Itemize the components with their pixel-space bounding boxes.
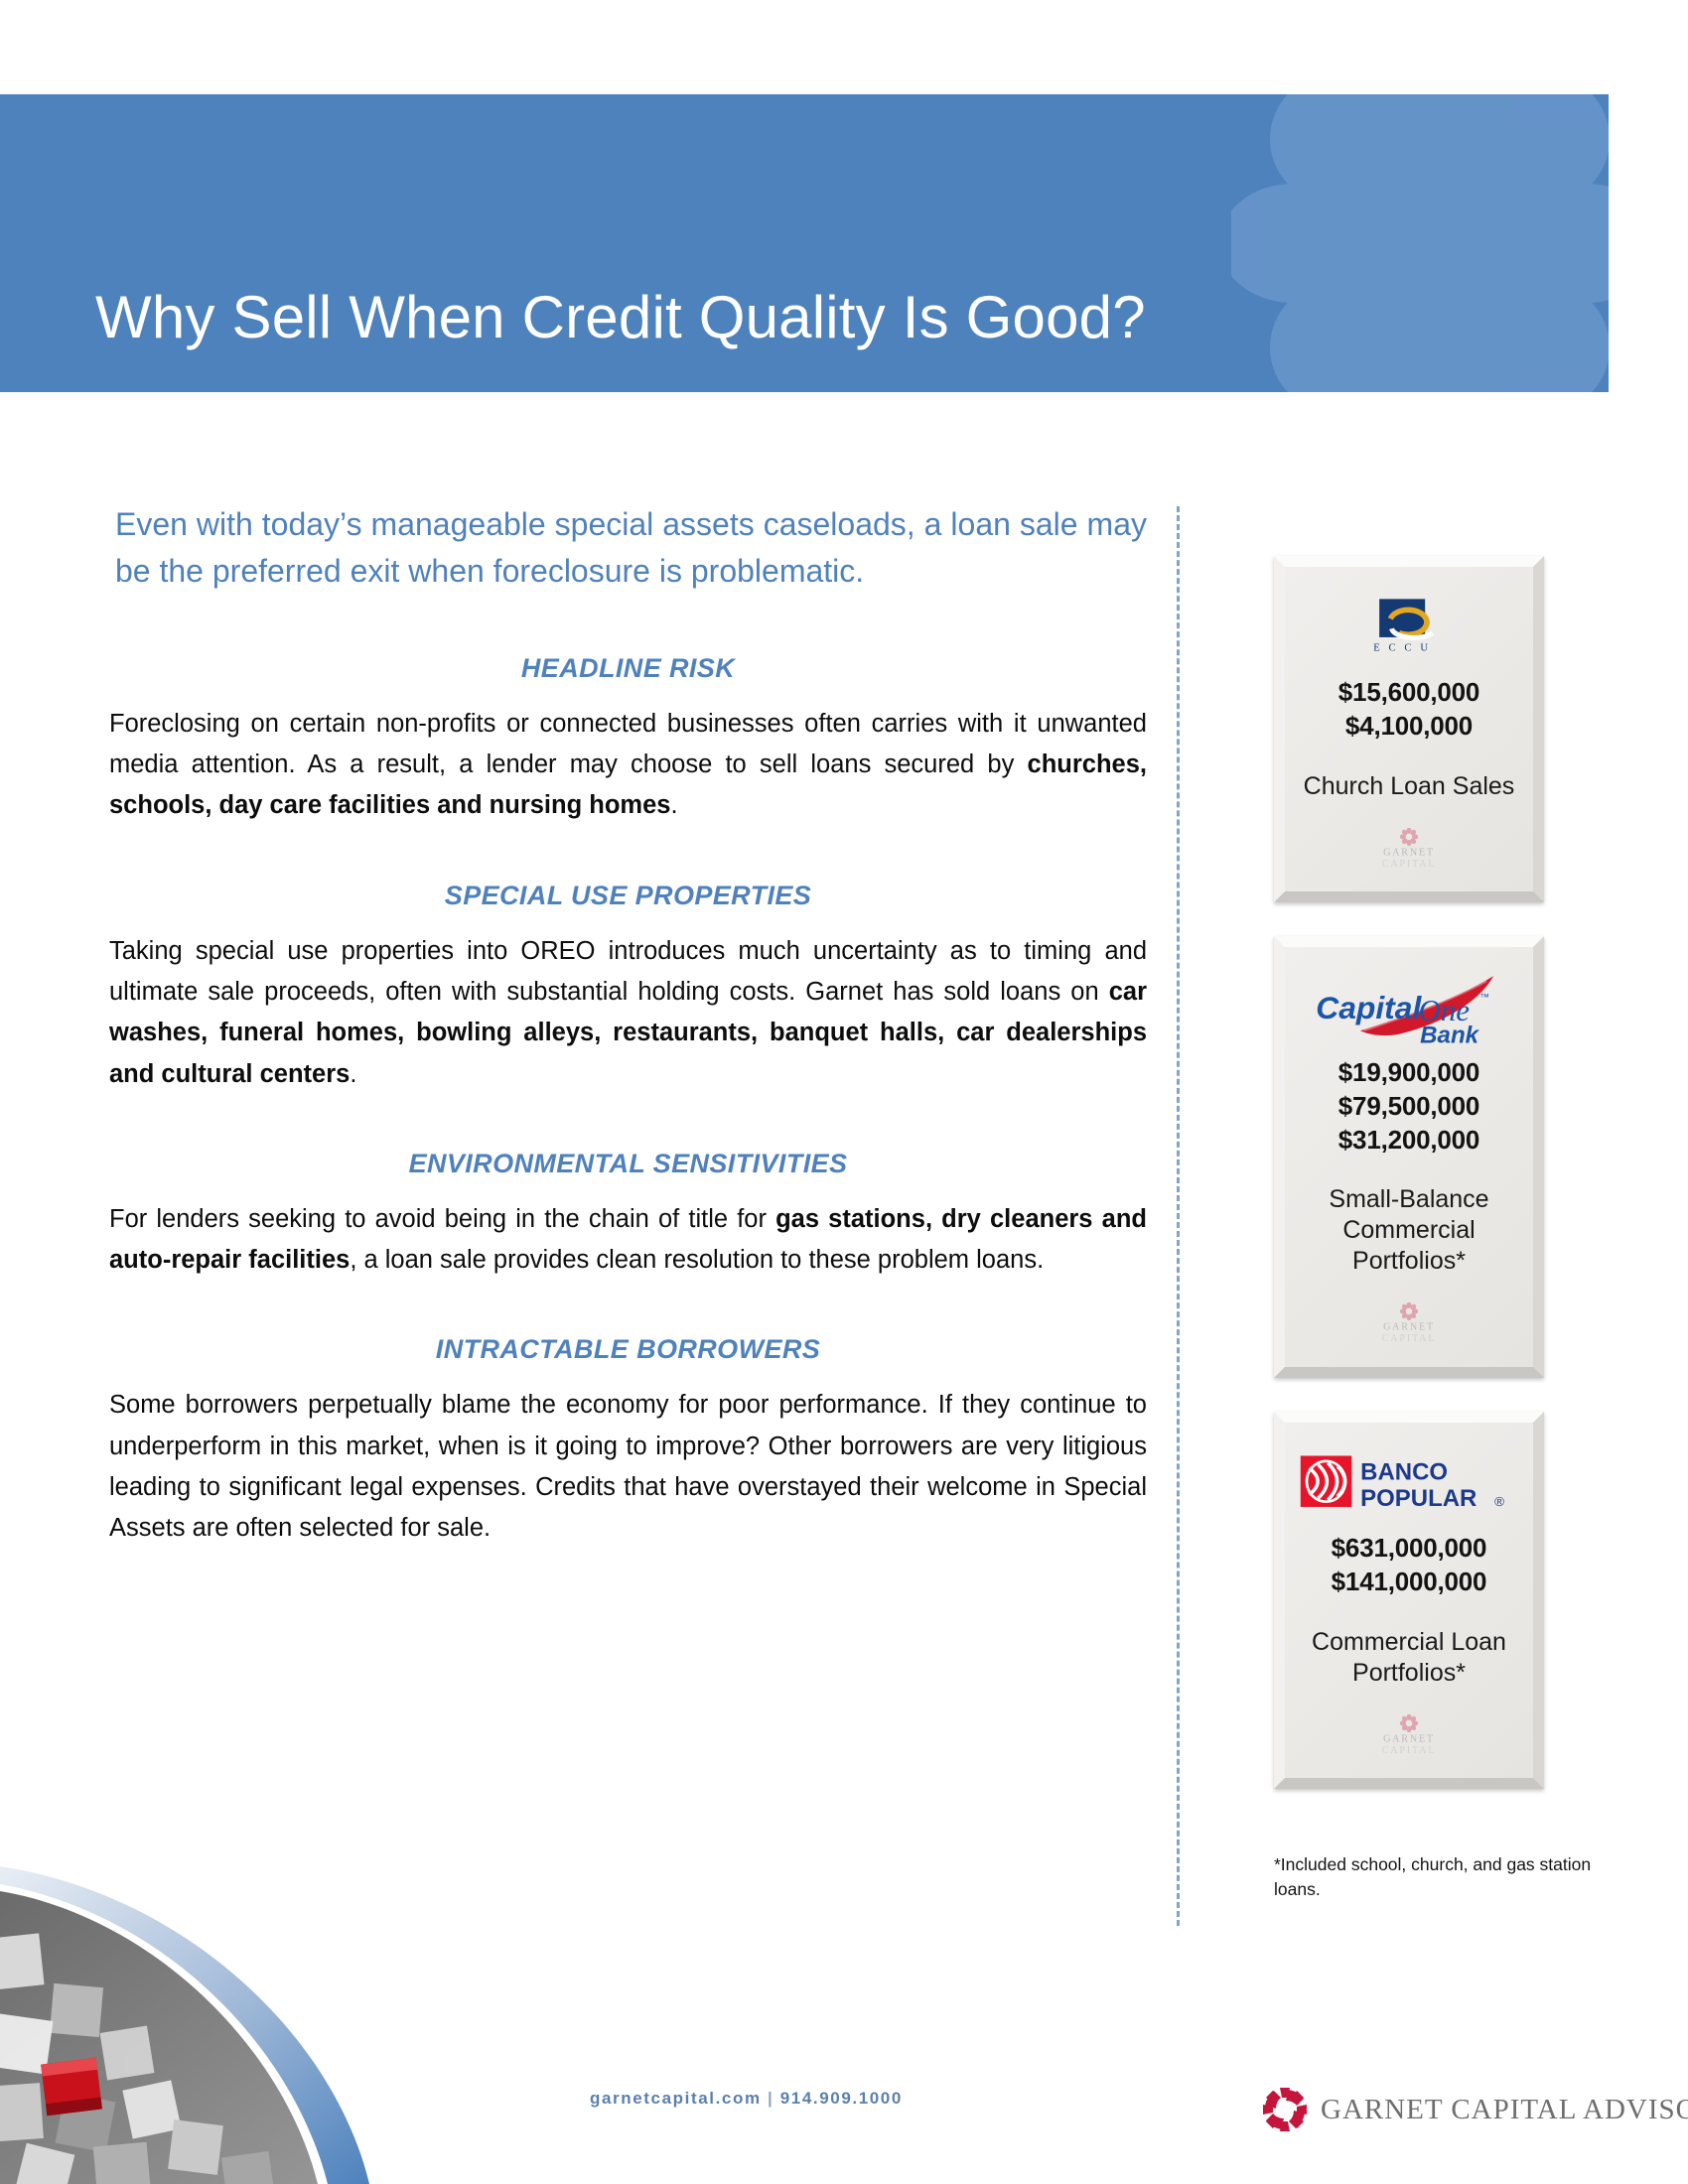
body-pre: Some borrowers perpetually blame the eco… [109,1391,1147,1542]
capital-one-wordmark: Capital [1316,990,1422,1025]
amount-list: $631,000,000 $141,000,000 [1295,1532,1523,1599]
popular-word: POPULAR [1360,1485,1477,1512]
section-body-special-use-properties: Taking special use properties into OREO … [109,931,1147,1095]
capital-one-bank-word: Bank [1420,1022,1479,1044]
banco-word: BANCO [1360,1458,1448,1485]
footer-contact: garnetcapital.com | 914.909.1000 [590,2089,903,2109]
cubes-decoration [0,1787,397,2184]
svg-text:®: ® [1494,1494,1504,1509]
garnet-capital-watermark-icon: GARNET CAPITAL [1344,1302,1474,1348]
deal-cards-sidebar: E C C U $15,600,000 $4,100,000 Church Lo… [1274,556,1544,1823]
sidebar-footnote: *Included school, church, and gas statio… [1274,1852,1592,1902]
page-title: Why Sell When Credit Quality Is Good? [95,283,1146,351]
svg-text:CAPITAL: CAPITAL [1382,1333,1437,1344]
svg-text:GARNET: GARNET [1383,1733,1435,1744]
svg-text:GARNET: GARNET [1383,1322,1435,1333]
deal-card-caption: Commercial Loan Portfolios* [1295,1627,1523,1689]
footer-brand-text: GARNET CAPITAL ADVISORS [1321,2094,1688,2126]
body-pre: Taking special use properties into OREO … [109,937,1147,1006]
section-heading-headline-risk: HEADLINE RISK [109,653,1147,684]
amount-value: $4,100,000 [1295,710,1523,744]
lede-paragraph: Even with today’s manageable special ass… [115,501,1147,596]
amount-value: $141,000,000 [1295,1566,1523,1599]
svg-text:CAPITAL: CAPITAL [1382,859,1437,870]
article-body: Even with today’s manageable special ass… [109,501,1147,1550]
deal-card-caption: Small-Balance Commercial Portfolios* [1295,1184,1523,1277]
amount-value: $19,900,000 [1295,1056,1523,1090]
column-divider [1177,506,1180,1926]
capital-one-bank-logo: Capital One ™ Bank [1295,965,1523,1050]
section-heading-special-use-properties: SPECIAL USE PROPERTIES [109,881,1147,911]
document-page: Why Sell When Credit Quality Is Good? Ev… [0,0,1688,2184]
deal-card-eccu: E C C U $15,600,000 $4,100,000 Church Lo… [1274,556,1544,902]
body-pre: Foreclosing on certain non-profits or co… [109,710,1147,778]
amount-value: $631,000,000 [1295,1532,1523,1566]
eccu-logo-label: E C C U [1373,643,1431,654]
footer-brand: GARNET CAPITAL ADVISORS [1263,2083,1688,2136]
footer-website[interactable]: garnetcapital.com [590,2089,762,2108]
body-post: . [350,1060,356,1088]
footer-phone[interactable]: 914.909.1000 [780,2089,903,2108]
section-heading-intractable-borrowers: INTRACTABLE BORROWERS [109,1334,1147,1365]
garnet-capital-watermark-icon: GARNET CAPITAL [1344,1714,1474,1760]
amount-value: $79,500,000 [1295,1090,1523,1124]
amount-list: $15,600,000 $4,100,000 [1295,676,1523,744]
page-header-band: Why Sell When Credit Quality Is Good? [0,94,1609,392]
garnet-capital-watermark-icon: GARNET CAPITAL [1344,828,1474,874]
section-body-environmental-sensitivities: For lenders seeking to avoid being in th… [109,1199,1147,1282]
section-heading-environmental-sensitivities: ENVIRONMENTAL SENSITIVITIES [109,1149,1147,1179]
svg-text:GARNET: GARNET [1383,847,1435,858]
deal-card-caption: Church Loan Sales [1295,771,1523,802]
deal-card-capital-one: Capital One ™ Bank $19,900,000 $79,500,0… [1274,936,1544,1378]
section-body-headline-risk: Foreclosing on certain non-profits or co… [109,704,1147,827]
deal-card-banco-popular: BANCO POPULAR ® $631,000,000 $141,000,00… [1274,1412,1544,1789]
red-cube-highlight [41,2058,102,2116]
section-body-intractable-borrowers: Some borrowers perpetually blame the eco… [109,1385,1147,1549]
svg-text:CAPITAL: CAPITAL [1382,1745,1437,1756]
svg-text:™: ™ [1479,992,1488,1003]
garnet-star-logo-icon [1263,2083,1307,2136]
body-post: . [670,791,677,819]
amount-value: $31,200,000 [1295,1124,1523,1158]
gear-flower-watermark-icon [1231,94,1609,392]
body-pre: For lenders seeking to avoid being in th… [109,1205,775,1233]
amount-value: $15,600,000 [1295,676,1523,710]
banco-popular-logo: BANCO POPULAR ® [1295,1440,1523,1526]
body-post: , a loan sale provides clean resolution … [350,1246,1044,1274]
eccu-logo: E C C U [1295,585,1523,670]
footer-separator: | [768,2089,774,2108]
amount-list: $19,900,000 $79,500,000 $31,200,000 [1295,1056,1523,1157]
